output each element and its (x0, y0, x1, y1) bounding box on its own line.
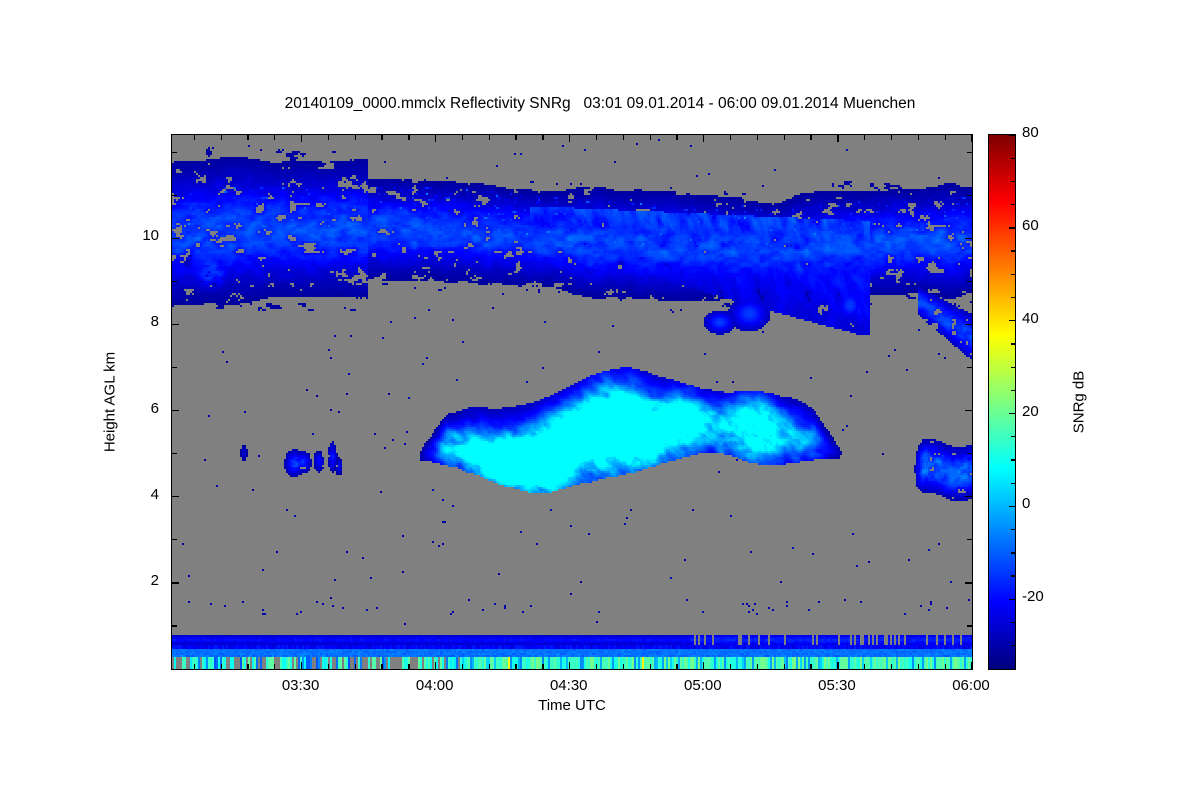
y-axis-title: Height AGL km (102, 352, 119, 452)
x-tick-mark-minor (515, 135, 516, 140)
colorbar-tick-mark-minor (1011, 274, 1015, 275)
x-tick-mark-minor (489, 135, 490, 140)
x-tick-mark-minor (408, 135, 409, 140)
colorbar-tick-mark-minor (1011, 622, 1015, 623)
colorbar-title: SNRg dB (1071, 371, 1088, 434)
x-tick-label: 06:00 (936, 677, 1006, 694)
x-tick-mark (569, 135, 570, 142)
x-tick-mark-minor (381, 664, 382, 669)
y-tick-mark (965, 582, 972, 583)
plot-axes: Height AGL kmTime UTC (171, 134, 973, 670)
x-tick-label: 05:00 (668, 677, 738, 694)
x-tick-mark-minor (489, 664, 490, 669)
colorbar-gradient (989, 135, 1015, 669)
x-tick-mark (703, 135, 704, 142)
colorbar-tick-mark (1009, 506, 1015, 507)
y-tick-mark-minor (967, 625, 972, 626)
x-tick-mark-minor (918, 135, 919, 140)
x-tick-mark-minor (355, 664, 356, 669)
x-tick-mark-minor (542, 664, 543, 669)
x-tick-mark-minor (247, 135, 248, 140)
x-tick-mark-minor (650, 664, 651, 669)
y-tick-mark-minor (967, 281, 972, 282)
y-tick-label: 8 (119, 313, 159, 330)
colorbar-tick-mark-minor (1011, 552, 1015, 553)
x-tick-mark-minor (274, 135, 275, 140)
colorbar-tick-mark (1009, 134, 1015, 135)
colorbar-tick-mark-minor (1011, 367, 1015, 368)
x-tick-mark (569, 662, 570, 669)
colorbar-tick-mark-minor (1011, 250, 1015, 251)
y-tick-mark-minor (967, 453, 972, 454)
colorbar-tick-mark-minor (1011, 204, 1015, 205)
x-tick-mark-minor (355, 135, 356, 140)
x-tick-mark (435, 662, 436, 669)
y-tick-mark-minor (967, 195, 972, 196)
y-tick-mark (965, 238, 972, 239)
x-tick-mark-minor (784, 664, 785, 669)
x-tick-mark-minor (247, 664, 248, 669)
x-tick-mark-minor (730, 664, 731, 669)
y-tick-label: 4 (119, 486, 159, 503)
x-tick-mark-minor (784, 135, 785, 140)
x-tick-mark-minor (194, 664, 195, 669)
x-tick-label: 04:00 (400, 677, 470, 694)
colorbar-tick-mark (1009, 413, 1015, 414)
x-tick-mark-minor (408, 664, 409, 669)
y-tick-mark-minor (967, 152, 972, 153)
x-tick-mark (971, 662, 972, 669)
y-tick-label: 10 (119, 227, 159, 244)
colorbar-tick-label: 80 (1022, 124, 1039, 141)
x-tick-mark-minor (757, 664, 758, 669)
x-tick-mark-minor (918, 664, 919, 669)
x-tick-label: 03:30 (266, 677, 336, 694)
y-tick-label: 2 (119, 572, 159, 589)
x-tick-mark (837, 135, 838, 142)
x-tick-mark (301, 135, 302, 142)
x-tick-mark (971, 135, 972, 142)
colorbar-tick-mark-minor (1011, 158, 1015, 159)
colorbar-tick-mark (1009, 227, 1015, 228)
y-tick-mark (965, 324, 972, 325)
x-tick-mark-minor (623, 664, 624, 669)
colorbar-tick-mark-minor (1011, 529, 1015, 530)
x-tick-mark-minor (810, 664, 811, 669)
x-tick-mark-minor (730, 135, 731, 140)
y-tick-mark-minor (172, 539, 177, 540)
colorbar-tick-mark (1009, 599, 1015, 600)
radar-heatmap (172, 135, 972, 669)
y-tick-mark (172, 238, 179, 239)
y-tick-mark (965, 410, 972, 411)
y-tick-mark-minor (172, 367, 177, 368)
x-tick-mark (435, 135, 436, 142)
colorbar-tick-mark-minor (1011, 297, 1015, 298)
y-tick-mark-minor (172, 195, 177, 196)
x-tick-label: 04:30 (534, 677, 604, 694)
y-tick-mark-minor (172, 453, 177, 454)
x-tick-mark-minor (891, 135, 892, 140)
x-tick-mark-minor (757, 135, 758, 140)
colorbar-tick-label: 40 (1022, 310, 1039, 327)
x-tick-mark-minor (676, 664, 677, 669)
y-tick-mark (172, 324, 179, 325)
x-tick-mark (703, 662, 704, 669)
x-tick-mark-minor (596, 664, 597, 669)
y-tick-mark (965, 496, 972, 497)
x-tick-mark-minor (945, 135, 946, 140)
y-tick-mark-minor (967, 367, 972, 368)
y-tick-mark-minor (172, 152, 177, 153)
x-tick-mark-minor (891, 664, 892, 669)
colorbar-tick-mark-minor (1011, 645, 1015, 646)
y-tick-mark (172, 496, 179, 497)
colorbar-tick-label: 0 (1022, 495, 1030, 512)
colorbar-tick-mark-minor (1011, 575, 1015, 576)
colorbar-tick-mark-minor (1011, 390, 1015, 391)
x-tick-mark-minor (515, 664, 516, 669)
y-tick-mark-minor (172, 281, 177, 282)
x-tick-mark-minor (650, 135, 651, 140)
x-tick-mark-minor (676, 135, 677, 140)
x-tick-mark-minor (864, 664, 865, 669)
x-tick-mark-minor (596, 135, 597, 140)
colorbar-tick-label: 20 (1022, 403, 1039, 420)
y-tick-mark-minor (172, 625, 177, 626)
x-axis-title: Time UTC (538, 697, 606, 714)
colorbar-tick-label: -20 (1022, 588, 1044, 605)
x-tick-mark-minor (381, 135, 382, 140)
x-tick-mark-minor (945, 664, 946, 669)
colorbar-tick-mark-minor (1011, 436, 1015, 437)
x-tick-mark-minor (810, 135, 811, 140)
x-tick-mark-minor (194, 135, 195, 140)
x-tick-mark (301, 662, 302, 669)
y-tick-mark (172, 410, 179, 411)
x-tick-mark-minor (864, 135, 865, 140)
colorbar-tick-mark-minor (1011, 343, 1015, 344)
x-tick-mark-minor (274, 664, 275, 669)
x-tick-mark-minor (221, 135, 222, 140)
x-tick-mark-minor (221, 664, 222, 669)
colorbar-tick-mark (1009, 320, 1015, 321)
colorbar-tick-mark-minor (1011, 181, 1015, 182)
colorbar-tick-label: 60 (1022, 217, 1039, 234)
y-tick-label: 6 (119, 400, 159, 417)
x-tick-mark-minor (542, 135, 543, 140)
x-tick-mark-minor (462, 135, 463, 140)
y-tick-mark (172, 582, 179, 583)
x-tick-mark (837, 662, 838, 669)
x-tick-mark-minor (462, 664, 463, 669)
colorbar: SNRg dB (988, 134, 1016, 670)
colorbar-tick-mark-minor (1011, 483, 1015, 484)
y-tick-mark-minor (967, 539, 972, 540)
page-title: 20140109_0000.mmclx Reflectivity SNRg 03… (0, 95, 1200, 113)
x-tick-mark-minor (328, 135, 329, 140)
radar-reflectivity-figure: 20140109_0000.mmclx Reflectivity SNRg 03… (0, 0, 1200, 800)
x-tick-mark-minor (623, 135, 624, 140)
x-tick-label: 05:30 (802, 677, 872, 694)
x-tick-mark-minor (328, 664, 329, 669)
colorbar-tick-mark-minor (1011, 459, 1015, 460)
